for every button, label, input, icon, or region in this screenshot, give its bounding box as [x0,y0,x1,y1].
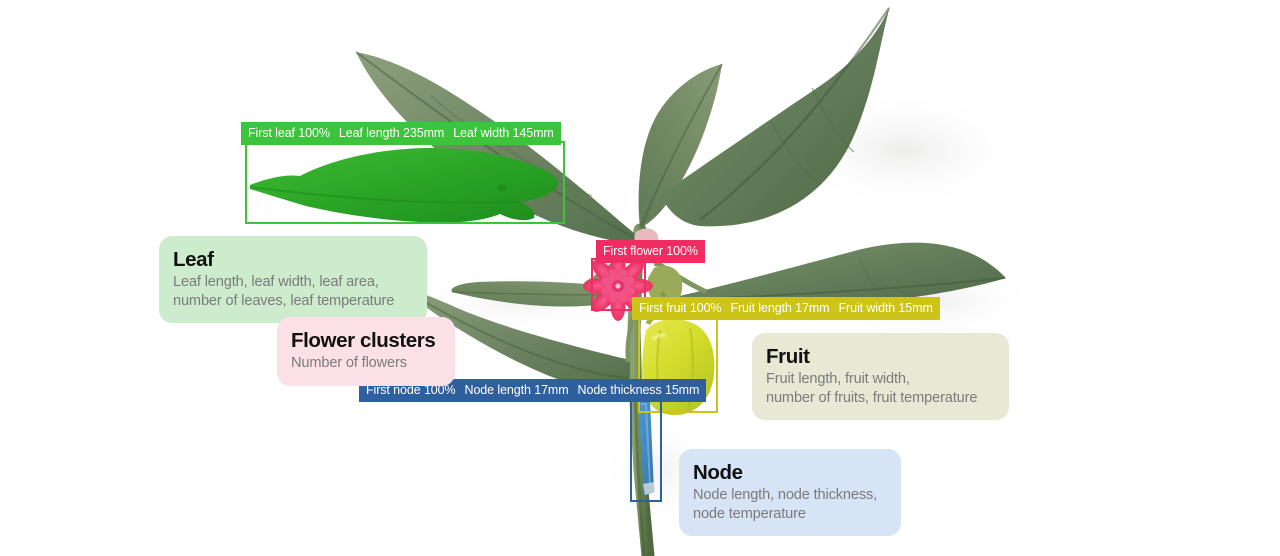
label-segment: First leaf 100% [248,126,330,140]
label-segment: Node thickness 15mm [578,383,700,397]
info-card-description: Node length, node thickness, node temper… [693,486,885,523]
annotated-plant-diagram: First leaf 100%Leaf length 235mmLeaf wid… [0,0,1280,556]
info-card-title: Flower clusters [291,328,439,353]
label-segment: Leaf length 235mm [339,126,444,140]
info-card-description: Leaf length, leaf width, leaf area, numb… [173,273,411,310]
label-segment: First fruit 100% [639,301,721,315]
info-card-title: Fruit [766,344,993,369]
info-card-fruit[interactable]: Fruit Fruit length, fruit width, number … [752,333,1009,420]
info-card-description: Fruit length, fruit width, number of fru… [766,370,993,407]
info-card-leaf[interactable]: Leaf Leaf length, leaf width, leaf area,… [159,236,427,323]
bbox-first-leaf[interactable] [245,141,565,224]
info-card-title: Leaf [173,247,411,272]
label-first-flower[interactable]: First flower 100% [596,240,705,263]
label-segment: Fruit width 15mm [839,301,933,315]
info-card-flower-clusters[interactable]: Flower clusters Number of flowers [277,317,455,386]
label-first-leaf[interactable]: First leaf 100%Leaf length 235mmLeaf wid… [241,122,561,145]
label-segment: Leaf width 145mm [453,126,554,140]
label-segment: Fruit length 17mm [730,301,829,315]
info-card-node[interactable]: Node Node length, node thickness, node t… [679,449,901,536]
bbox-first-node[interactable] [630,397,662,502]
label-first-fruit[interactable]: First fruit 100%Fruit length 17mmFruit w… [632,297,940,320]
label-segment: Node length 17mm [465,383,569,397]
info-card-title: Node [693,460,885,485]
label-segment: First flower 100% [603,244,698,258]
info-card-description: Number of flowers [291,354,439,373]
